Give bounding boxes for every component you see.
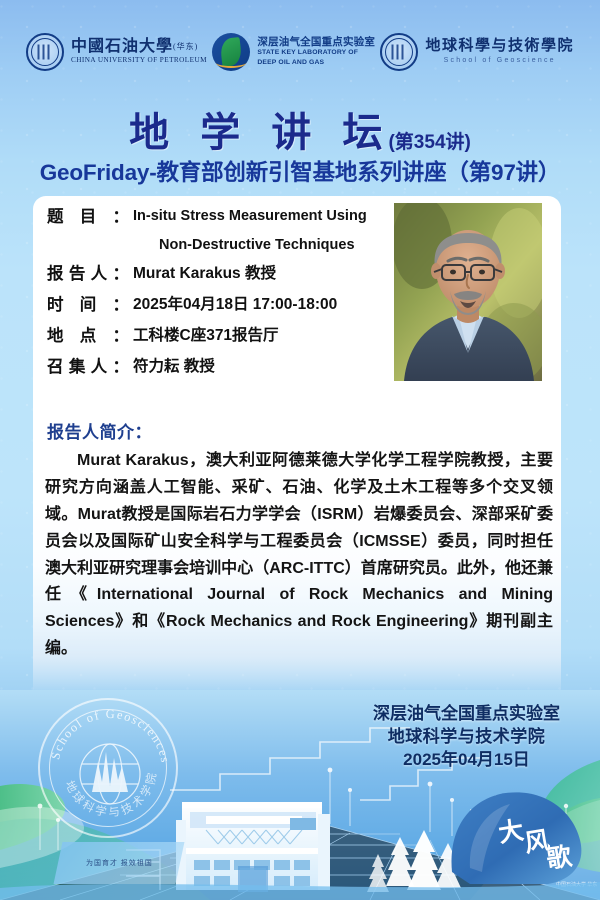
logo-geo-name-cn: 地球科學与技術學院 (425, 39, 574, 55)
page-subtitle: GeoFriday-教育部创新引智基地系列讲座（第97讲） (0, 155, 600, 187)
lab-leaf-icon (212, 33, 250, 71)
page-title-main: 地 学 讲 坛 (129, 111, 392, 155)
bio-heading: 报告人简介： (47, 418, 152, 443)
bio-paragraph: Murat Karakus，澳大利亚阿德莱德大学化学工程学院教授，主要研究方向涵… (45, 448, 553, 663)
logo-state-key-laboratory: 深层油气全国重点实验室 STATE KEY LABORATORY OF DEEP… (212, 33, 375, 71)
logo-school-of-geoscience: 地球科學与技術學院 School of Geoscience (380, 33, 574, 71)
logo-cup-name-en: CHINA UNIVERSITY OF PETROLEUM (71, 57, 207, 65)
page-title: 地 学 讲 坛(第354讲) (0, 100, 600, 158)
logo-cup-name-cn: 中國石油大學(华东) (71, 39, 207, 56)
info-row-venue: 地点： 工科楼C座371报告厅 (47, 326, 387, 348)
page-title-ordinal: (第354讲) (388, 132, 470, 153)
info-label-topic: 题目： (47, 207, 129, 229)
svg-text:School of Geosciences: School of Geosciences (48, 707, 172, 765)
signature-block: 深层油气全国重点实验室 地球科学与技术学院 2025年04月15日 (373, 703, 560, 772)
watermark-cn-text: 地球科学与技术学院 (63, 769, 160, 820)
signature-date: 2025年04月15日 (373, 749, 560, 772)
info-value-topic-line2: Non-Destructive Techniques (129, 236, 367, 255)
speaker-photo (394, 203, 542, 381)
logo-geo-name-en: School of Geoscience (425, 57, 574, 64)
school-seal-icon (380, 33, 418, 71)
info-label-speaker: 报告人： (47, 264, 129, 286)
logo-lab-name-en-1: STATE KEY LABORATORY OF (257, 49, 375, 57)
info-value-topic-line1: In-situ Stress Measurement Using (129, 207, 367, 226)
university-seal-icon (26, 33, 64, 71)
campus-building (176, 802, 330, 892)
watermark-en-text: School of Geosciences (48, 707, 172, 765)
info-row-topic: 题目： In-situ Stress Measurement Using Non… (47, 207, 387, 255)
plaque-text: 为国育才 报效祖国 (86, 858, 153, 868)
info-row-convener: 召集人： 符力耘 教授 (47, 357, 387, 379)
info-label-convener: 召集人： (47, 357, 129, 379)
info-label-venue: 地点： (47, 326, 129, 348)
header-logo-bar: 中國石油大學(华东) CHINA UNIVERSITY OF PETROLEUM… (0, 26, 600, 78)
signature-lab: 深层油气全国重点实验室 (373, 703, 560, 726)
logo-cup-campus: (华东) (173, 42, 198, 51)
logo-lab-name-en-2: DEEP OIL AND GAS (257, 59, 375, 67)
logo-china-university-of-petroleum: 中國石油大學(华东) CHINA UNIVERSITY OF PETROLEUM (26, 33, 207, 71)
svg-text:大: 大 (497, 816, 526, 848)
globe-seal-icon: School of Geosciences 地球科学与技术学院 (38, 698, 178, 838)
svg-text:地球科学与技术学院: 地球科学与技术学院 (63, 769, 160, 820)
info-value-convener: 符力耘 教授 (129, 357, 215, 377)
info-value-venue: 工科楼C座371报告厅 (129, 326, 279, 346)
campus-plaque: 为国育才 报效祖国 (54, 842, 185, 884)
logo-lab-name-cn: 深层油气全国重点实验室 (257, 37, 375, 48)
info-label-time: 时间： (47, 295, 129, 317)
info-value-speaker: Murat Karakus 教授 (129, 264, 276, 284)
info-value-time: 2025年04月18日 17:00-18:00 (129, 295, 337, 315)
poster-root: 中國石油大學(华东) CHINA UNIVERSITY OF PETROLEUM… (0, 0, 600, 900)
signature-school: 地球科学与技术学院 (373, 726, 560, 749)
info-row-time: 时间： 2025年04月18日 17:00-18:00 (47, 295, 387, 317)
info-row-speaker: 报告人： Murat Karakus 教授 (47, 264, 387, 286)
bio-text: Murat Karakus，澳大利亚阿德莱德大学化学工程学院教授，主要研究方向涵… (45, 448, 553, 663)
lecture-info-list: 题目： In-situ Stress Measurement Using Non… (47, 207, 387, 387)
